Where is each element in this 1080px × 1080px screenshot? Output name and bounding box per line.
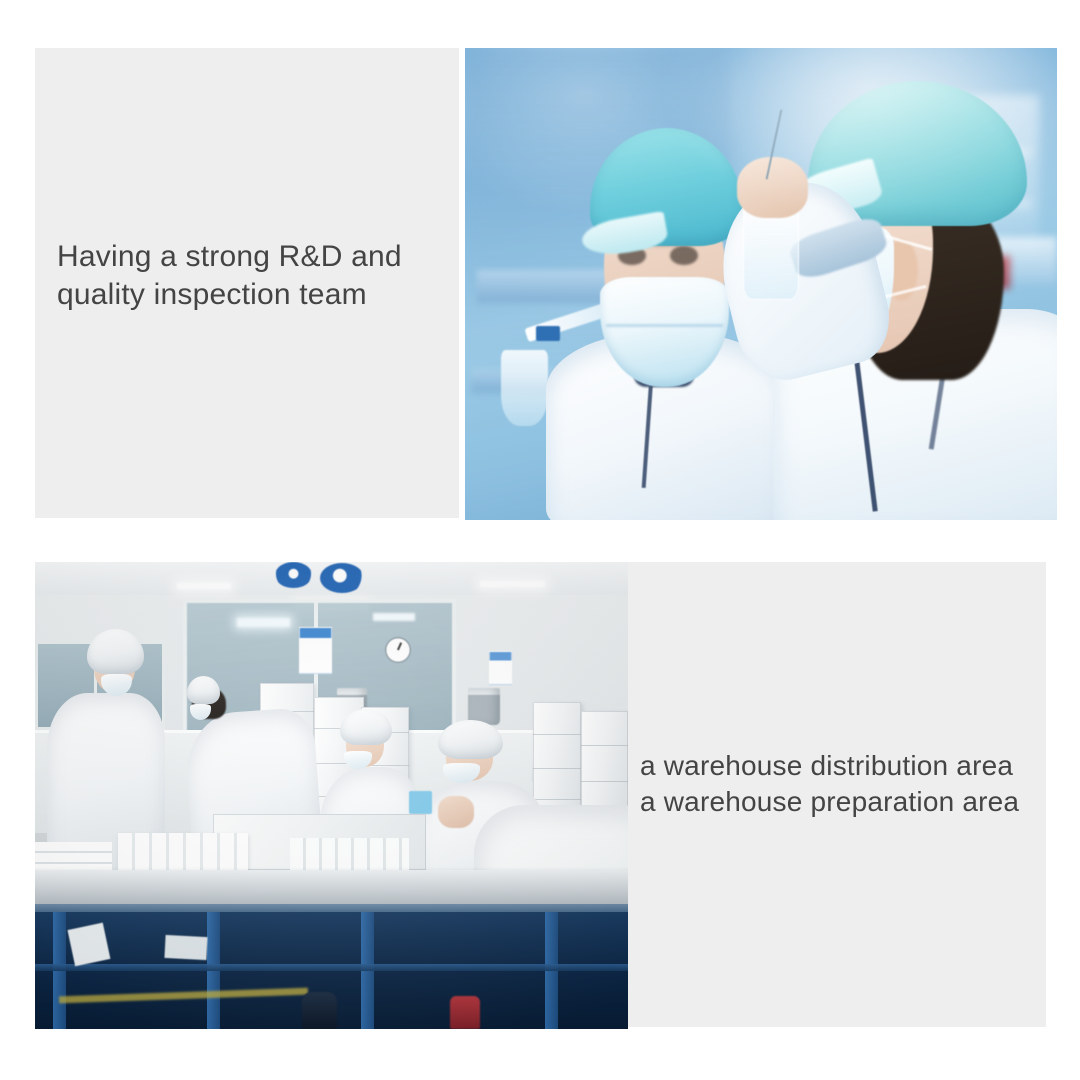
interior-light-1 xyxy=(237,618,290,627)
warehouse-photo xyxy=(35,562,628,1029)
lab-hand xyxy=(737,157,808,218)
warehouse-scene-illustration xyxy=(35,562,628,1029)
ceiling-light-3 xyxy=(480,581,545,587)
lab-flask xyxy=(501,350,548,426)
lab-scene-illustration xyxy=(465,48,1057,520)
worker-shoe-dark xyxy=(302,992,338,1029)
loose-paper-1 xyxy=(67,923,110,967)
rnd-caption-panel: Having a strong R&D and quality inspecti… xyxy=(35,48,459,518)
warehouse-caption-text: a warehouse distribution area a warehous… xyxy=(640,748,1046,820)
ceiling-light-1 xyxy=(177,583,230,589)
poster-root: Having a strong R&D and quality inspecti… xyxy=(0,0,1080,1080)
section-warehouse: a warehouse distribution area a warehous… xyxy=(35,562,1046,1029)
stainless-worktable-top xyxy=(35,870,628,907)
wall-sign-round-left xyxy=(275,562,312,588)
blue-package-item xyxy=(409,791,433,814)
worktable-rail xyxy=(35,964,628,971)
wall-clock-icon xyxy=(385,637,411,663)
loose-paper-2 xyxy=(165,935,208,960)
lab-beaker xyxy=(743,204,798,300)
lab-mask-fold-front xyxy=(606,324,723,327)
section-rnd: Having a strong R&D and quality inspecti… xyxy=(35,48,1057,520)
warehouse-caption-panel: a warehouse distribution area a warehous… xyxy=(628,562,1046,1027)
interior-light-2 xyxy=(373,613,415,620)
rnd-photo xyxy=(465,48,1057,520)
worker-shoe-red xyxy=(450,996,480,1029)
lab-bottle-cap-icon xyxy=(536,326,560,340)
wall-notice-board xyxy=(299,627,332,673)
rnd-caption-text: Having a strong R&D and quality inspecti… xyxy=(57,238,449,314)
wall-notice-board-secondary xyxy=(489,651,512,686)
worker-hand xyxy=(438,796,474,829)
